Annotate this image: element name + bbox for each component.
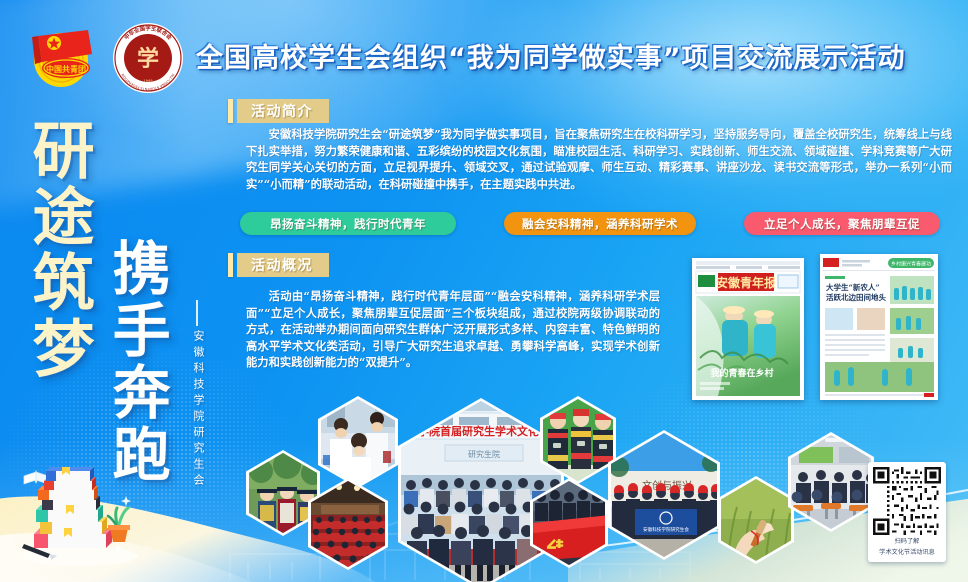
svg-text:中国共青团: 中国共青团 bbox=[46, 64, 86, 74]
book-stack-illustration bbox=[18, 448, 148, 568]
svg-text:研究生院: 研究生院 bbox=[468, 449, 500, 459]
hex-photo-classroom[interactable] bbox=[788, 432, 874, 532]
hex-photo-conference-hall[interactable] bbox=[308, 478, 388, 570]
calligraphy-line-1: 研途筑梦 bbox=[28, 118, 88, 382]
page-title: 全国高校学生会组织“我为同学做实事”项目交流展示活动 bbox=[196, 36, 906, 75]
tag-pill-1[interactable]: 融会安科精神，涵养科研学术 bbox=[504, 212, 696, 235]
section-badge-intro: 活动简介 bbox=[228, 99, 329, 123]
overview-paragraph: 活动由“昂扬奋斗精神，践行时代青年层面”“融会安科精神，涵养科研学术层面”“立足… bbox=[246, 288, 660, 371]
hex-photo-volunteer-team[interactable]: 文创与振兴 bbox=[608, 430, 720, 560]
svg-text:1949: 1949 bbox=[143, 79, 153, 83]
svg-text:安徽科技学院研究生会: 安徽科技学院研究生会 bbox=[643, 526, 689, 533]
svg-text:乡村振兴青春建功: 乡村振兴青春建功 bbox=[891, 261, 931, 268]
badge-accent-bar bbox=[228, 253, 233, 277]
svg-text:大学生“新农人”: 大学生“新农人” bbox=[826, 282, 880, 292]
newspaper-front-page[interactable]: 安徽青年报 bbox=[692, 258, 804, 400]
qr-code-box[interactable]: 扫码了解 学术文化节活动讯息 bbox=[868, 462, 946, 562]
badge-accent-bar bbox=[228, 99, 233, 123]
poster-canvas: 中国共青团 学 中华全国学生联合会 ALL-CHINA STUDENTS FED… bbox=[0, 0, 968, 582]
svg-text:我的青春在乡村: 我的青春在乡村 bbox=[710, 367, 773, 379]
all-china-students-federation-emblem-icon: 学 中华全国学生联合会 ALL-CHINA STUDENTS FEDERATIO… bbox=[112, 22, 184, 94]
qr-caption-line-2: 学术文化节活动讯息 bbox=[879, 549, 935, 557]
tag-pill-2[interactable]: 立足个人成长，聚焦朋辈互促 bbox=[744, 212, 940, 235]
section-badge-intro-label: 活动简介 bbox=[237, 99, 329, 123]
qr-caption-line-1: 扫码了解 bbox=[895, 538, 920, 546]
section-badge-overview: 活动概况 bbox=[228, 253, 329, 277]
tag-pill-1-label: 融会安科精神，涵养科研学术 bbox=[522, 216, 678, 232]
section-badge-overview-label: 活动概况 bbox=[237, 253, 329, 277]
communist-youth-league-emblem-icon: 中国共青团 bbox=[22, 24, 100, 90]
svg-text:学院首届研究生学术文化节: 学院首届研究生学术文化节 bbox=[418, 424, 550, 438]
tag-pill-group: 昂扬奋斗精神，践行时代青年 融会安科精神，涵养科研学术 立足个人成长，聚焦朋辈互… bbox=[240, 212, 940, 236]
newspaper-group: 安徽青年报 bbox=[692, 254, 944, 402]
organization-divider bbox=[196, 300, 198, 326]
intro-paragraph: 安徽科技学院研究生会“研途筑梦”我为同学做实事项目，旨在聚焦研究生在校科研学习，… bbox=[246, 126, 952, 192]
tag-pill-2-label: 立足个人成长，聚焦朋辈互促 bbox=[764, 216, 920, 232]
qr-code-icon bbox=[873, 467, 941, 535]
svg-text:活跃北边田间地头: 活跃北边田间地头 bbox=[826, 292, 886, 302]
hex-photo-laboratory[interactable] bbox=[318, 396, 398, 488]
logo-group: 中国共青团 学 中华全国学生联合会 ALL-CHINA STUDENTS FED… bbox=[18, 20, 198, 90]
svg-text:学: 学 bbox=[137, 46, 159, 72]
hex-photo-academic-culture-festival[interactable]: 学院首届研究生学术文化节 研究生院 bbox=[398, 398, 564, 582]
newspaper-feature-page[interactable]: 乡村振兴青春建功 大学生“新农人” 活跃北边田间地头 bbox=[820, 254, 938, 400]
tag-pill-0[interactable]: 昂扬奋斗精神，践行时代青年 bbox=[240, 212, 456, 235]
organization-name: 安徽科技学院研究生会 bbox=[190, 330, 206, 490]
svg-text:安徽青年报: 安徽青年报 bbox=[716, 275, 776, 290]
tag-pill-0-label: 昂扬奋斗精神，践行时代青年 bbox=[270, 216, 426, 232]
hex-photo-field-research[interactable] bbox=[718, 476, 794, 564]
